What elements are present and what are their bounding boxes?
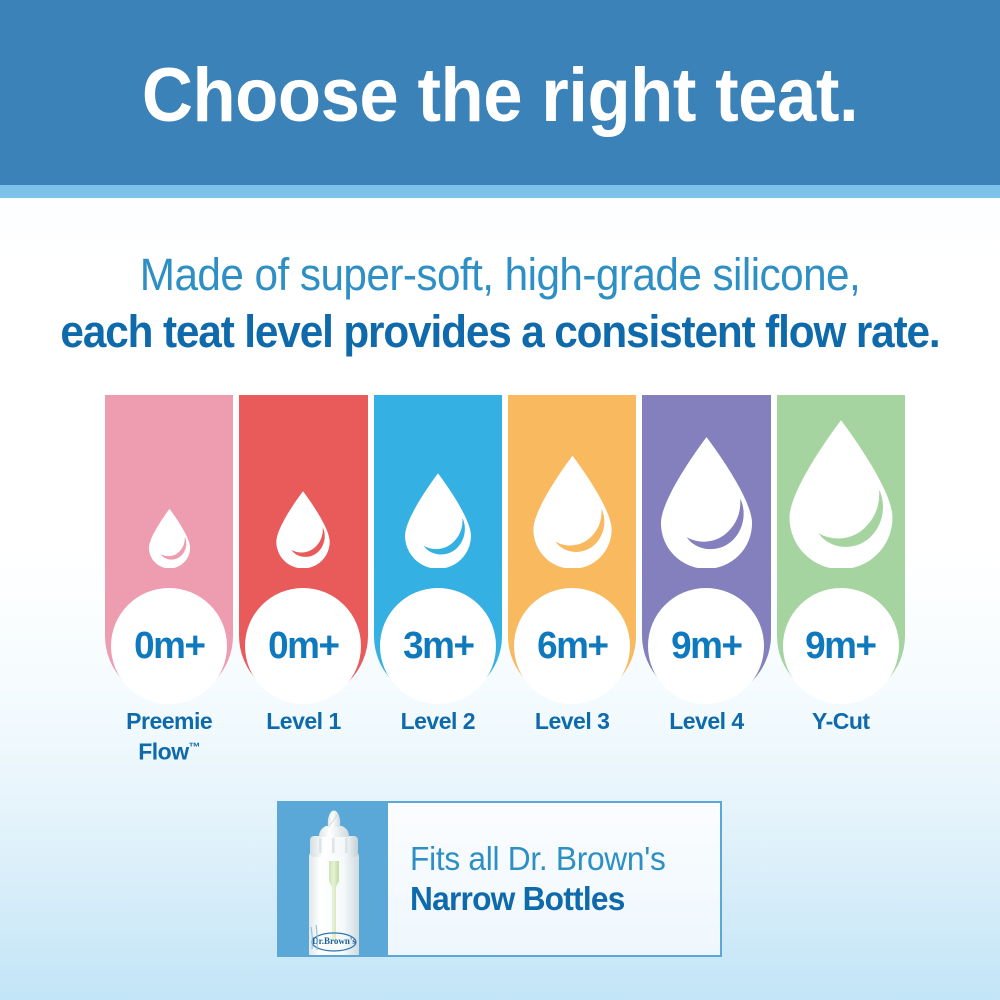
teat-card-label: Y-Cut — [767, 708, 915, 734]
trademark-mark: ™ — [189, 740, 201, 754]
age-badge: 0m+ — [245, 588, 361, 704]
teat-card-label: Level 2 — [364, 708, 512, 734]
age-badge: 3m+ — [380, 588, 496, 704]
droplet-icon — [642, 435, 770, 568]
age-badge-text: 0m+ — [134, 625, 204, 668]
subtitle-block: Made of super-soft, high-grade silicone,… — [0, 246, 1000, 360]
subtitle-line-1: Made of super-soft, high-grade silicone, — [30, 246, 970, 304]
teat-card[interactable]: 9m+Y-Cut — [777, 395, 905, 700]
age-badge: 0m+ — [111, 588, 227, 704]
page-title: Choose the right teat. — [35, 52, 965, 139]
banner-text-block: Fits all Dr. Brown's Narrow Bottles — [388, 803, 720, 955]
age-badge: 6m+ — [514, 588, 630, 704]
age-badge: 9m+ — [648, 588, 764, 704]
teat-card-list: 0m+Preemie Flow™0m+Level 13m+Level 26m+L… — [105, 395, 905, 705]
teat-card[interactable]: 0m+Level 1 — [239, 395, 367, 700]
droplet-icon — [105, 508, 233, 568]
age-badge-text: 9m+ — [671, 625, 741, 668]
age-badge-text: 9m+ — [806, 625, 876, 668]
teat-card-label: Level 1 — [229, 708, 377, 734]
age-badge: 9m+ — [783, 588, 899, 704]
teat-card-label-text: Level 2 — [401, 708, 476, 734]
teat-card-label-text: Level 1 — [266, 708, 341, 734]
teat-card-label: Level 4 — [632, 708, 780, 734]
baby-bottle-illustration: Dr.Brown's — [295, 809, 373, 955]
teat-card-label-text: Preemie Flow — [126, 708, 212, 765]
teat-card[interactable]: 0m+Preemie Flow™ — [105, 395, 233, 700]
age-badge-text: 3m+ — [403, 625, 473, 668]
droplet-icon — [239, 490, 367, 568]
header-underline — [0, 185, 1000, 198]
age-badge-text: 0m+ — [268, 625, 338, 668]
teat-card[interactable]: 3m+Level 2 — [374, 395, 502, 700]
droplet-icon — [777, 418, 905, 568]
teat-card-label: Preemie Flow™ — [95, 708, 243, 765]
teat-card-label: Level 3 — [498, 708, 646, 734]
banner-line-1: Fits all Dr. Brown's — [410, 839, 708, 879]
teat-card-label-text: Level 3 — [535, 708, 610, 734]
teat-card-label-text: Level 4 — [669, 708, 744, 734]
age-badge-text: 6m+ — [537, 625, 607, 668]
bottle-logo-text: Dr.Brown's — [312, 936, 356, 946]
infographic-root: Choose the right teat. Made of super-sof… — [0, 0, 1000, 1000]
teat-card[interactable]: 6m+Level 3 — [508, 395, 636, 700]
droplet-icon — [508, 454, 636, 568]
bottle-image-panel: Dr.Brown's — [279, 803, 388, 955]
subtitle-line-2: each teat level provides a consistent fl… — [30, 304, 970, 360]
teat-card[interactable]: 9m+Level 4 — [642, 395, 770, 700]
droplet-icon — [374, 472, 502, 568]
teat-card-label-text: Y-Cut — [812, 708, 870, 734]
compatibility-banner: Dr.Brown's Fits all Dr. Brown's Narrow B… — [277, 801, 722, 957]
banner-line-2: Narrow Bottles — [410, 879, 708, 919]
